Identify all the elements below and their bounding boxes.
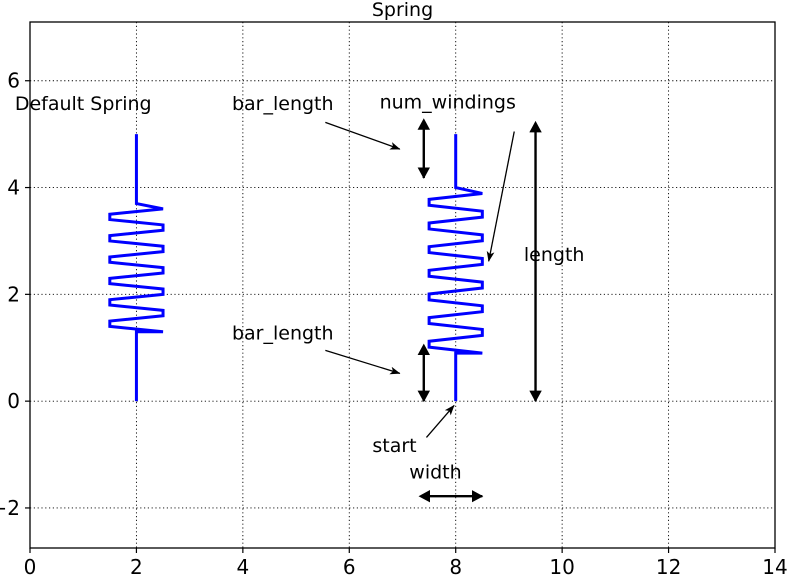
- annotation-label-start: start: [372, 435, 416, 457]
- x-tick-label: 6: [343, 555, 356, 577]
- annotation-label-length: length: [524, 244, 585, 266]
- figure-background: [0, 0, 788, 577]
- plot-title: Spring: [372, 0, 433, 21]
- annotation-label-bar-length-bottom: bar_length: [232, 323, 334, 345]
- x-tick-label: 4: [236, 555, 249, 577]
- spring-plot-canvas: Default Springbar_lengthbar_lengthnum_wi…: [0, 0, 788, 577]
- annotation-label-width: width: [409, 462, 461, 484]
- matplotlib-figure: Default Springbar_lengthbar_lengthnum_wi…: [0, 0, 788, 577]
- x-tick-label: 12: [656, 555, 681, 577]
- x-tick-label: 10: [549, 555, 574, 577]
- x-tick-label: 0: [24, 555, 37, 577]
- y-tick-label: 2: [7, 282, 20, 306]
- annotation-label-bar-length-top: bar_length: [232, 93, 334, 115]
- annotation-label-num-windings: num_windings: [380, 92, 516, 114]
- y-tick-label: 0: [7, 389, 20, 413]
- y-tick-label: 6: [7, 69, 20, 93]
- y-tick-label: 4: [7, 176, 20, 200]
- annotation-label-default-spring-label: Default Spring: [15, 93, 152, 115]
- x-tick-label: 14: [762, 555, 787, 577]
- y-tick-label: −2: [0, 496, 20, 520]
- x-tick-label: 2: [130, 555, 143, 577]
- x-tick-label: 8: [449, 555, 462, 577]
